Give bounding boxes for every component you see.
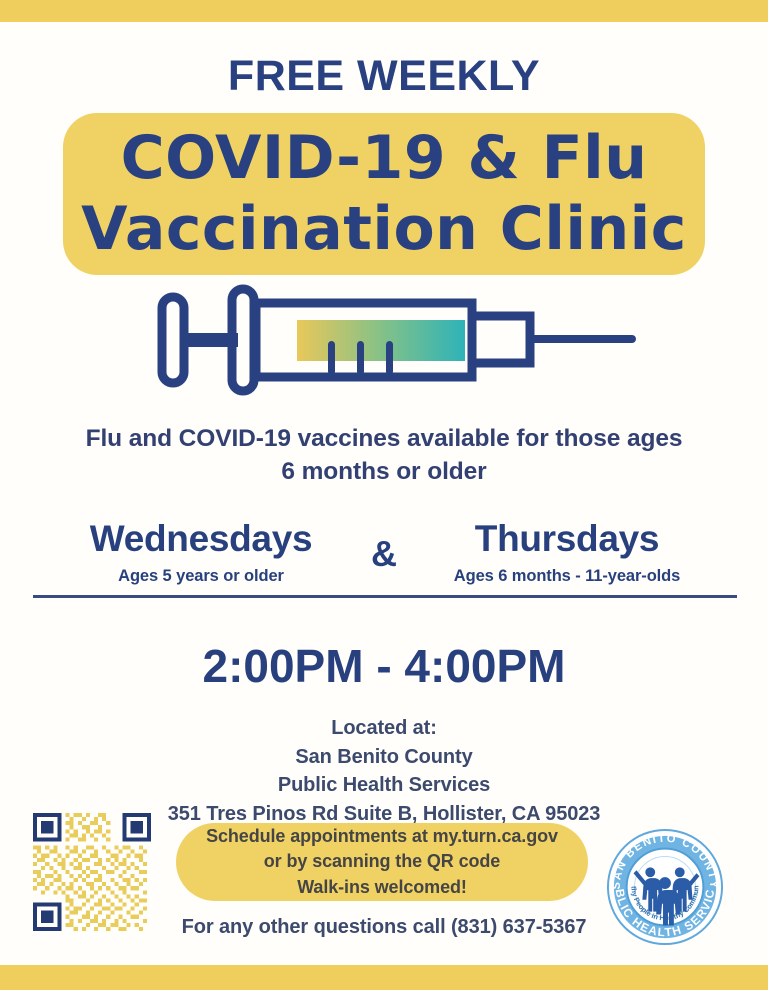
syringe-icon	[152, 283, 644, 397]
top-accent-band	[0, 0, 768, 22]
location-block: Located at: San Benito County Public Hea…	[0, 714, 768, 828]
bottom-accent-band	[0, 965, 768, 990]
contact-phone: For any other questions call (831) 637-5…	[0, 916, 768, 939]
day-separator-ampersand: &	[346, 519, 422, 575]
day-ages-wednesdays: Ages 5 years or older	[56, 567, 346, 586]
day-column-thursdays: Thursdays Ages 6 months - 11-year-olds	[422, 519, 712, 586]
intro-line-1: Flu and COVID-19 vaccines available for …	[0, 423, 768, 456]
appointment-callout: Schedule appointments at my.turn.ca.gov …	[176, 823, 588, 901]
eyebrow-heading: FREE WEEKLY	[0, 52, 768, 101]
flyer-canvas: FREE WEEKLY COVID-19 & Flu Vaccination C…	[0, 0, 768, 990]
title-line-2: Vaccination Clinic	[81, 194, 687, 265]
day-ages-thursdays: Ages 6 months - 11-year-olds	[422, 567, 712, 586]
section-divider	[33, 595, 737, 598]
qr-code-icon[interactable]	[33, 813, 151, 931]
location-org-line-1: San Benito County	[0, 743, 768, 772]
title-banner: COVID-19 & Flu Vaccination Clinic	[63, 113, 705, 275]
clinic-hours: 2:00PM - 4:00PM	[0, 639, 768, 693]
callout-line-1: Schedule appointments at my.turn.ca.gov	[206, 824, 558, 850]
title-line-1: COVID-19 & Flu	[121, 123, 648, 194]
location-label: Located at:	[0, 714, 768, 743]
schedule-days-row: Wednesdays Ages 5 years or older & Thurs…	[0, 519, 768, 586]
callout-line-2: or by scanning the QR code	[264, 849, 500, 875]
callout-line-3: Walk-ins welcomed!	[297, 875, 467, 901]
intro-text: Flu and COVID-19 vaccines available for …	[0, 423, 768, 488]
location-org-line-2: Public Health Services	[0, 771, 768, 800]
day-column-wednesdays: Wednesdays Ages 5 years or older	[56, 519, 346, 586]
day-name-thursdays: Thursdays	[422, 519, 712, 559]
day-name-wednesdays: Wednesdays	[56, 519, 346, 559]
intro-line-2: 6 months or older	[0, 456, 768, 489]
